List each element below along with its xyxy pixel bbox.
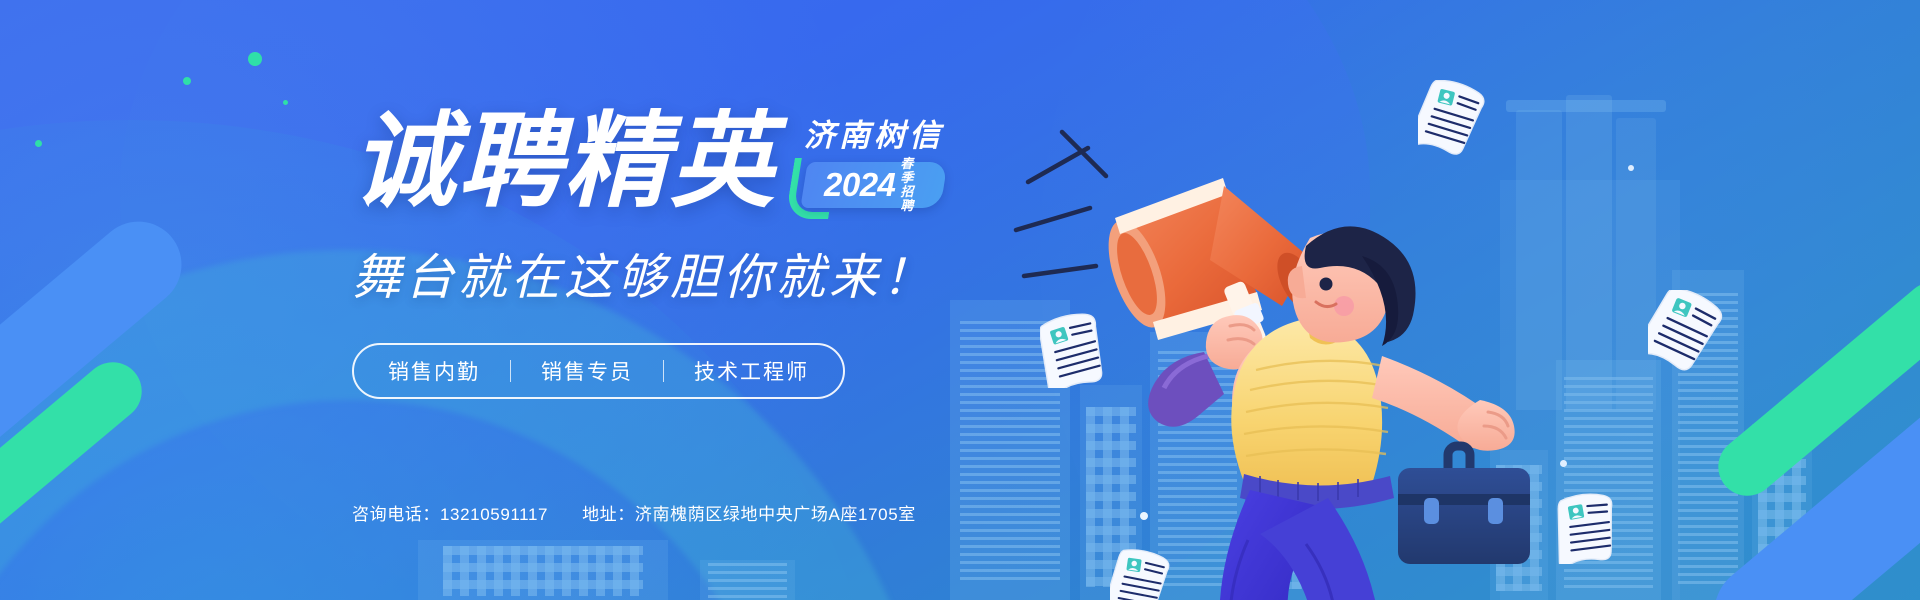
building — [700, 560, 795, 600]
decor-dot-teal — [248, 52, 262, 66]
recruitment-banner: 诚聘精英 济南树信 2024 春季 招聘 — [0, 0, 1920, 600]
subheadline: 舞台就在这够胆你就来！ — [352, 238, 1052, 309]
briefcase-latch — [1424, 498, 1439, 524]
phone-value[interactable]: 13210591117 — [440, 505, 548, 524]
address-label: 地址： — [582, 505, 635, 524]
motion-lines-icon — [1016, 132, 1106, 276]
decor-dot-teal — [183, 77, 191, 85]
contact-info: 咨询电话：13210591117 地址：济南槐荫区绿地中央广场A座1705室 — [352, 500, 916, 525]
brand-stack: 济南树信 2024 春季 招聘 — [790, 110, 944, 208]
resume-paper-icon — [1648, 290, 1728, 372]
resume-paper-icon — [1040, 310, 1116, 388]
decor-dot-teal — [35, 140, 42, 147]
badge-subtext: 春季 招聘 — [900, 157, 928, 213]
decor-dot-white — [1628, 165, 1634, 171]
tag-separator — [510, 360, 511, 382]
address-value: 济南槐荫区绿地中央广场A座1705室 — [635, 505, 916, 524]
eye — [1320, 278, 1333, 291]
pillar — [1566, 95, 1612, 410]
resume-paper-icon — [1418, 80, 1492, 156]
head — [1288, 226, 1416, 346]
job-tag-2[interactable]: 技术工程师 — [694, 356, 809, 386]
tag-separator — [663, 360, 664, 382]
briefcase-icon — [1398, 446, 1530, 564]
resume-paper-icon — [1110, 548, 1178, 600]
phone-group: 咨询电话：13210591117 — [352, 500, 548, 525]
building — [418, 540, 668, 600]
year-badge: 2024 春季 招聘 — [790, 162, 944, 208]
address-group: 地址：济南槐荫区绿地中央广场A座1705室 — [582, 500, 916, 525]
page-title: 诚聘精英 — [352, 110, 776, 214]
copy-block: 诚聘精英 济南树信 2024 春季 招聘 — [352, 110, 1052, 399]
job-tag-1[interactable]: 销售专员 — [541, 356, 633, 386]
megaphone-icon — [1097, 178, 1327, 348]
legs — [1219, 490, 1380, 600]
extended-arm — [1372, 356, 1515, 451]
decor-dot-teal — [283, 100, 288, 105]
brand-name: 济南树信 — [804, 110, 944, 155]
badge-sub-line2: 招聘 — [900, 185, 928, 213]
phone-label: 咨询电话： — [352, 505, 440, 524]
resume-paper-icon — [1556, 490, 1628, 564]
headline-row: 诚聘精英 济南树信 2024 春季 招聘 — [352, 110, 1052, 214]
job-tag-0[interactable]: 销售内勤 — [388, 356, 480, 386]
badge-year: 2024 — [824, 166, 895, 204]
cheek — [1334, 296, 1354, 316]
badge-body: 2024 春季 招聘 — [800, 162, 947, 208]
badge-sub-line1: 春季 — [900, 157, 928, 185]
job-tags-pill: 销售内勤 销售专员 技术工程师 — [352, 343, 845, 399]
briefcase-latch — [1488, 498, 1503, 524]
